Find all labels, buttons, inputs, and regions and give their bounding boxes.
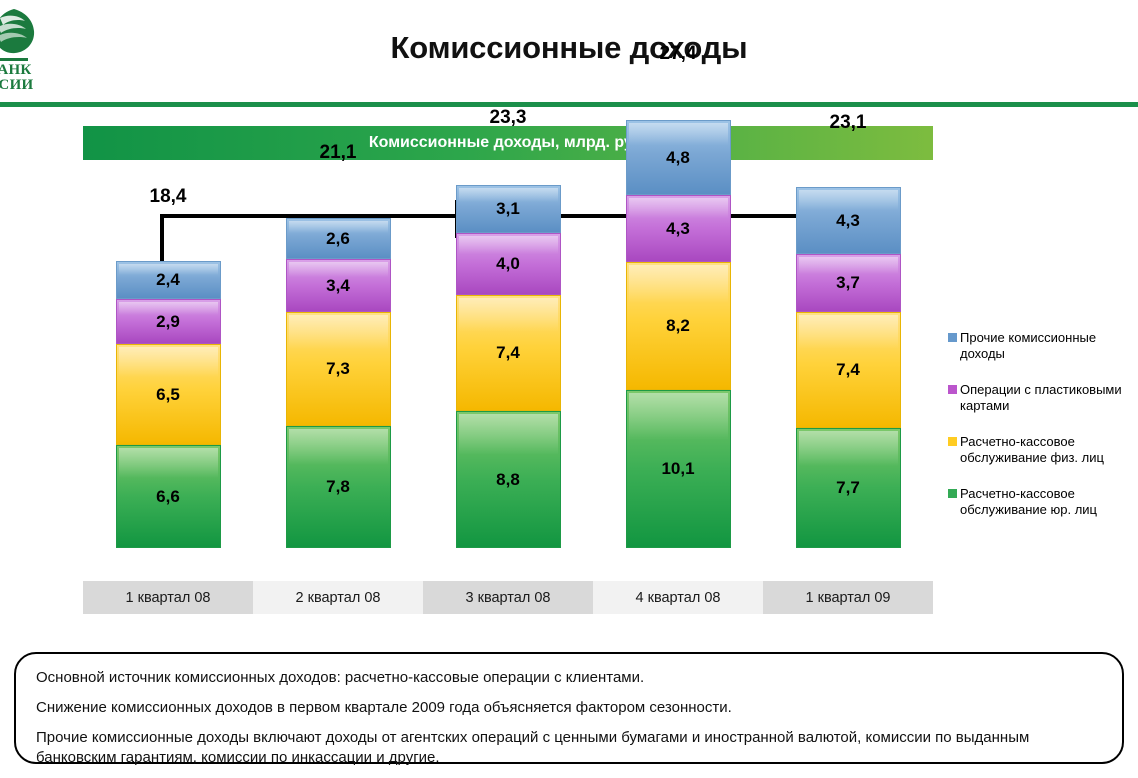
segment-cards-2: 4,0 xyxy=(456,233,561,295)
segment-other-1: 2,6 xyxy=(286,218,391,259)
legend-swatch-icon-cards xyxy=(948,385,957,394)
footnote-line-3: Прочие комиссионные доходы включают дохо… xyxy=(36,728,1102,768)
bar-column-q2-08[interactable]: 2,6 3,4 7,3 7,8 xyxy=(253,218,423,548)
axis-label-2: 3 квартал 08 xyxy=(423,581,593,614)
segment-retail-2: 7,4 xyxy=(456,295,561,411)
segment-other-2: 3,1 xyxy=(456,185,561,233)
segment-corporate-3: 10,1 xyxy=(626,390,731,548)
bar-total-0: 18,4 xyxy=(83,186,253,208)
bar-total-1: 21,1 xyxy=(253,142,423,164)
page-title: Комиссионные доходы xyxy=(0,30,1138,66)
axis-label-1: 2 квартал 08 xyxy=(253,581,423,614)
bar-total-3: 27,4 xyxy=(593,43,763,65)
chart-plot-area: 18,4 2,4 2,9 6,5 6,6 21,1 2,6 3,4 7,3 7,… xyxy=(83,170,933,610)
bar-column-q1-08[interactable]: 2,4 2,9 6,5 6,6 xyxy=(83,261,253,548)
axis-label-3: 4 квартал 08 xyxy=(593,581,763,614)
segment-corporate-4: 7,7 xyxy=(796,428,901,548)
legend-swatch-icon-corporate xyxy=(948,489,957,498)
segment-retail-0: 6,5 xyxy=(116,344,221,445)
segment-corporate-2: 8,8 xyxy=(456,411,561,548)
bar-total-2: 23,3 xyxy=(423,107,593,129)
footnote-line-1: Основной источник комиссионных доходов: … xyxy=(36,668,1102,688)
legend-label-corporate: Расчетно-кассовое обслуживание юр. лиц xyxy=(960,486,1134,517)
segment-other-0: 2,4 xyxy=(116,261,221,299)
chart-legend: Прочие комиссионные доходы Операции с пл… xyxy=(948,330,1134,538)
segment-retail-3: 8,2 xyxy=(626,262,731,390)
legend-swatch-icon-other xyxy=(948,333,957,342)
segment-cards-0: 2,9 xyxy=(116,299,221,344)
segment-cards-4: 3,7 xyxy=(796,254,901,312)
legend-label-retail: Расчетно-кассовое обслуживание физ. лиц xyxy=(960,434,1134,465)
page-header: …БАНК …ССИИ Комиссионные доходы xyxy=(0,0,1138,106)
footnote-box: Основной источник комиссионных доходов: … xyxy=(14,652,1124,764)
bar-column-q3-08[interactable]: 3,1 4,0 7,4 8,8 xyxy=(423,185,593,548)
legend-label-other: Прочие комиссионные доходы xyxy=(960,330,1134,361)
segment-other-3: 4,8 xyxy=(626,120,731,195)
legend-item-other[interactable]: Прочие комиссионные доходы xyxy=(948,330,1134,361)
bar-column-q1-09[interactable]: 4,3 3,7 7,4 7,7 xyxy=(763,187,933,548)
legend-item-retail[interactable]: Расчетно-кассовое обслуживание физ. лиц xyxy=(948,434,1134,465)
bar-column-q4-08[interactable]: 4,8 4,3 8,2 10,1 xyxy=(593,120,763,548)
segment-other-4: 4,3 xyxy=(796,187,901,254)
footnote-line-2: Снижение комиссионных доходов в первом к… xyxy=(36,698,1102,718)
legend-swatch-icon-retail xyxy=(948,437,957,446)
logo-wordmark: …БАНК …ССИИ xyxy=(0,63,56,93)
segment-retail-4: 7,4 xyxy=(796,312,901,428)
segment-cards-1: 3,4 xyxy=(286,259,391,312)
legend-item-cards[interactable]: Операции с пластиковыми картами xyxy=(948,382,1134,413)
chart-x-axis: 1 квартал 08 2 квартал 08 3 квартал 08 4… xyxy=(83,581,933,614)
segment-retail-1: 7,3 xyxy=(286,312,391,426)
legend-item-corporate[interactable]: Расчетно-кассовое обслуживание юр. лиц xyxy=(948,486,1134,517)
bar-total-4: 23,1 xyxy=(763,112,933,134)
segment-corporate-0: 6,6 xyxy=(116,445,221,548)
segment-cards-3: 4,3 xyxy=(626,195,731,262)
segment-corporate-1: 7,8 xyxy=(286,426,391,548)
legend-label-cards: Операции с пластиковыми картами xyxy=(960,382,1134,413)
axis-label-4: 1 квартал 09 xyxy=(763,581,933,614)
axis-label-0: 1 квартал 08 xyxy=(83,581,253,614)
